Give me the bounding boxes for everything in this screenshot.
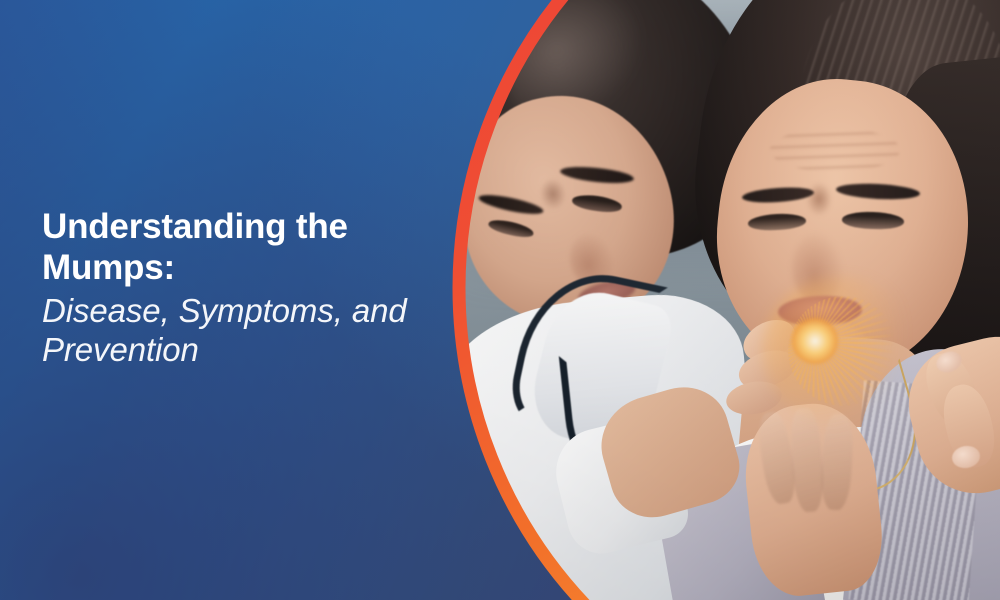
swelling-glow-core bbox=[792, 318, 838, 364]
mumps-awareness-banner: Understanding the Mumps: Disease, Sympto… bbox=[0, 0, 1000, 600]
page-title: Understanding the Mumps: bbox=[42, 206, 442, 289]
text-block: Understanding the Mumps: Disease, Sympto… bbox=[42, 206, 442, 370]
doctor-brow-furrow bbox=[537, 176, 568, 212]
page-subtitle: Disease, Symptoms, and Prevention bbox=[42, 291, 442, 370]
patient-brow-furrow bbox=[806, 182, 832, 216]
patient-forehead-lines bbox=[770, 128, 900, 172]
